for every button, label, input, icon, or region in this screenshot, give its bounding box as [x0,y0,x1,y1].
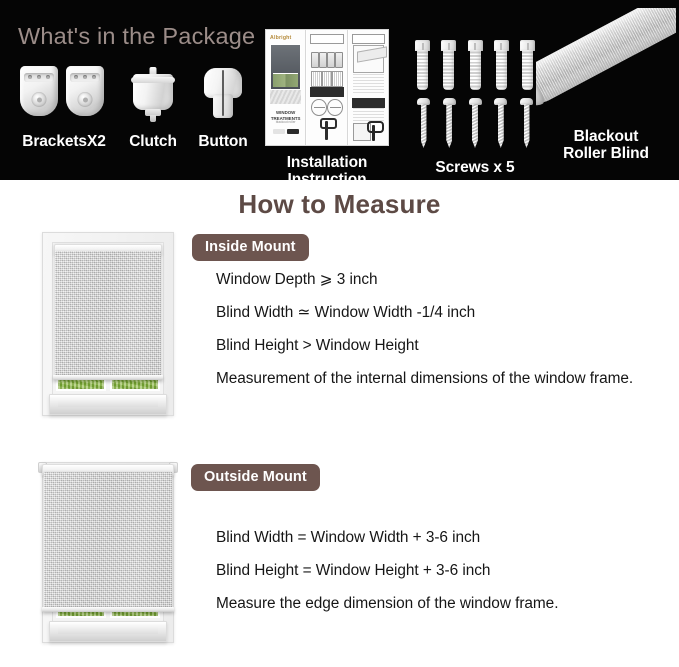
package-item-brackets: BracketsX2 [8,62,120,150]
inside-mount-text: Window Depth ⩾ 3 inch Blind Width ≃ Wind… [216,263,633,395]
inside-mount-badge: Inside Mount [192,234,309,261]
measure-line: Measure the edge dimension of the window… [216,587,558,620]
manual-icon: Albright WINDOW TREATMENTS blackout roll… [266,30,388,145]
measure-line: Blind Width ≃ Window Width -1/4 inch [216,296,633,329]
wall-anchor-icon [412,40,538,94]
package-item-label: Screws x 5 [412,159,538,176]
rolled-blind-icon [536,8,676,126]
measure-line: Measurement of the internal dimensions o… [216,362,633,395]
measure-line: Blind Height > Window Height [216,329,633,362]
package-title: What's in the Package [18,23,255,50]
clutch-icon [124,62,182,122]
package-item-label: BracketsX2 [8,133,120,150]
package-item-label: Button [188,133,258,150]
package-contents-section: What's in the Package BracketsX2 [0,0,679,180]
screw-icon [412,98,538,150]
leaflet-caption-sub: blackout roller [266,120,305,124]
package-item-button: Button [188,62,258,150]
package-item-label: Blackout Roller Blind [536,128,676,163]
outside-mount-badge: Outside Mount [191,464,320,491]
blind-fabric [44,472,172,608]
measure-line: Blind Width = Window Width + 3-6 inch [216,521,558,554]
outside-mount-illustration [28,456,188,661]
product-infographic: What's in the Package BracketsX2 [0,0,679,667]
leaflet-brand: Albright [270,35,291,41]
package-item-clutch: Clutch [124,62,182,150]
package-item-label: Clutch [124,133,182,150]
package-item-roller-blind: Blackout Roller Blind [536,8,676,168]
measure-line: Blind Height = Window Height + 3-6 inch [216,554,558,587]
how-to-measure-title: How to Measure [0,189,679,220]
bottom-bar [42,607,174,612]
bracket-icon [8,62,120,122]
package-item-screws: Screws x 5 [412,40,538,176]
inside-mount-illustration [28,226,188,434]
bottom-bar [53,375,163,380]
package-item-instruction: Albright WINDOW TREATMENTS blackout roll… [266,30,388,180]
package-item-label: Installation Instruction [266,154,388,180]
outside-mount-text: Blind Width = Window Width + 3-6 inch Bl… [216,521,558,620]
button-icon [188,62,258,122]
measure-line: Window Depth ⩾ 3 inch [216,263,633,296]
blind-fabric [55,251,161,376]
